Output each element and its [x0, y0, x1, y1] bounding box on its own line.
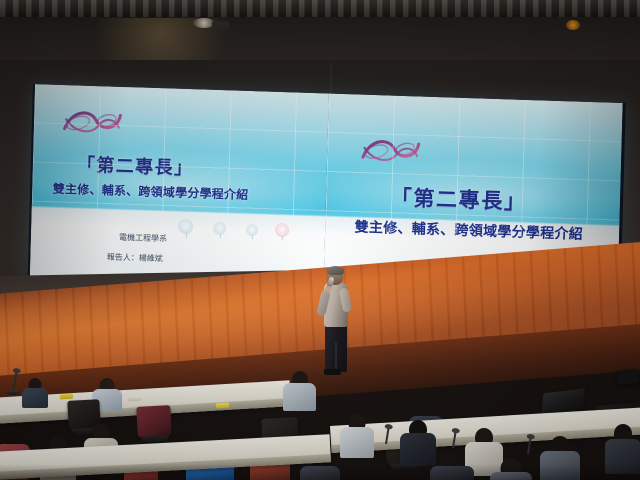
attendee	[22, 378, 48, 408]
left-screen[interactable]: 「第二專長」 雙主修、輔系、跨領域學分學程介紹 電機工程學系 報告人：楊維斌	[30, 84, 329, 289]
notepad	[128, 396, 141, 402]
ceiling-valance-curtain	[0, 0, 640, 17]
spotlight-amber-icon	[566, 20, 580, 30]
attendee	[340, 414, 374, 458]
stage-equipment-box	[616, 369, 639, 385]
yellow-pad	[60, 394, 73, 400]
chair	[136, 405, 172, 437]
lecture-hall-scene: 「第二專長」 雙主修、輔系、跨領域學分學程介紹 電機工程學系 報告人：楊維斌	[0, 0, 640, 480]
microphone-base	[6, 390, 20, 395]
spotlight-housing-icon	[212, 21, 229, 29]
attendee	[283, 371, 316, 411]
swirl-ribbon-logo	[356, 126, 425, 179]
slide-title: 「第二專長」	[77, 150, 194, 180]
slide-title: 「第二專長」	[390, 182, 527, 216]
slide-presenter: 報告人：楊維斌	[107, 251, 163, 264]
attendee	[540, 436, 580, 480]
attendee	[490, 458, 532, 480]
yellow-pad	[216, 403, 229, 409]
slide-organization: 電機工程學系	[119, 232, 167, 245]
attendee	[430, 452, 474, 480]
swirl-ribbon-logo	[57, 97, 126, 150]
attendee	[605, 424, 640, 474]
speaker-on-stage	[316, 268, 356, 378]
